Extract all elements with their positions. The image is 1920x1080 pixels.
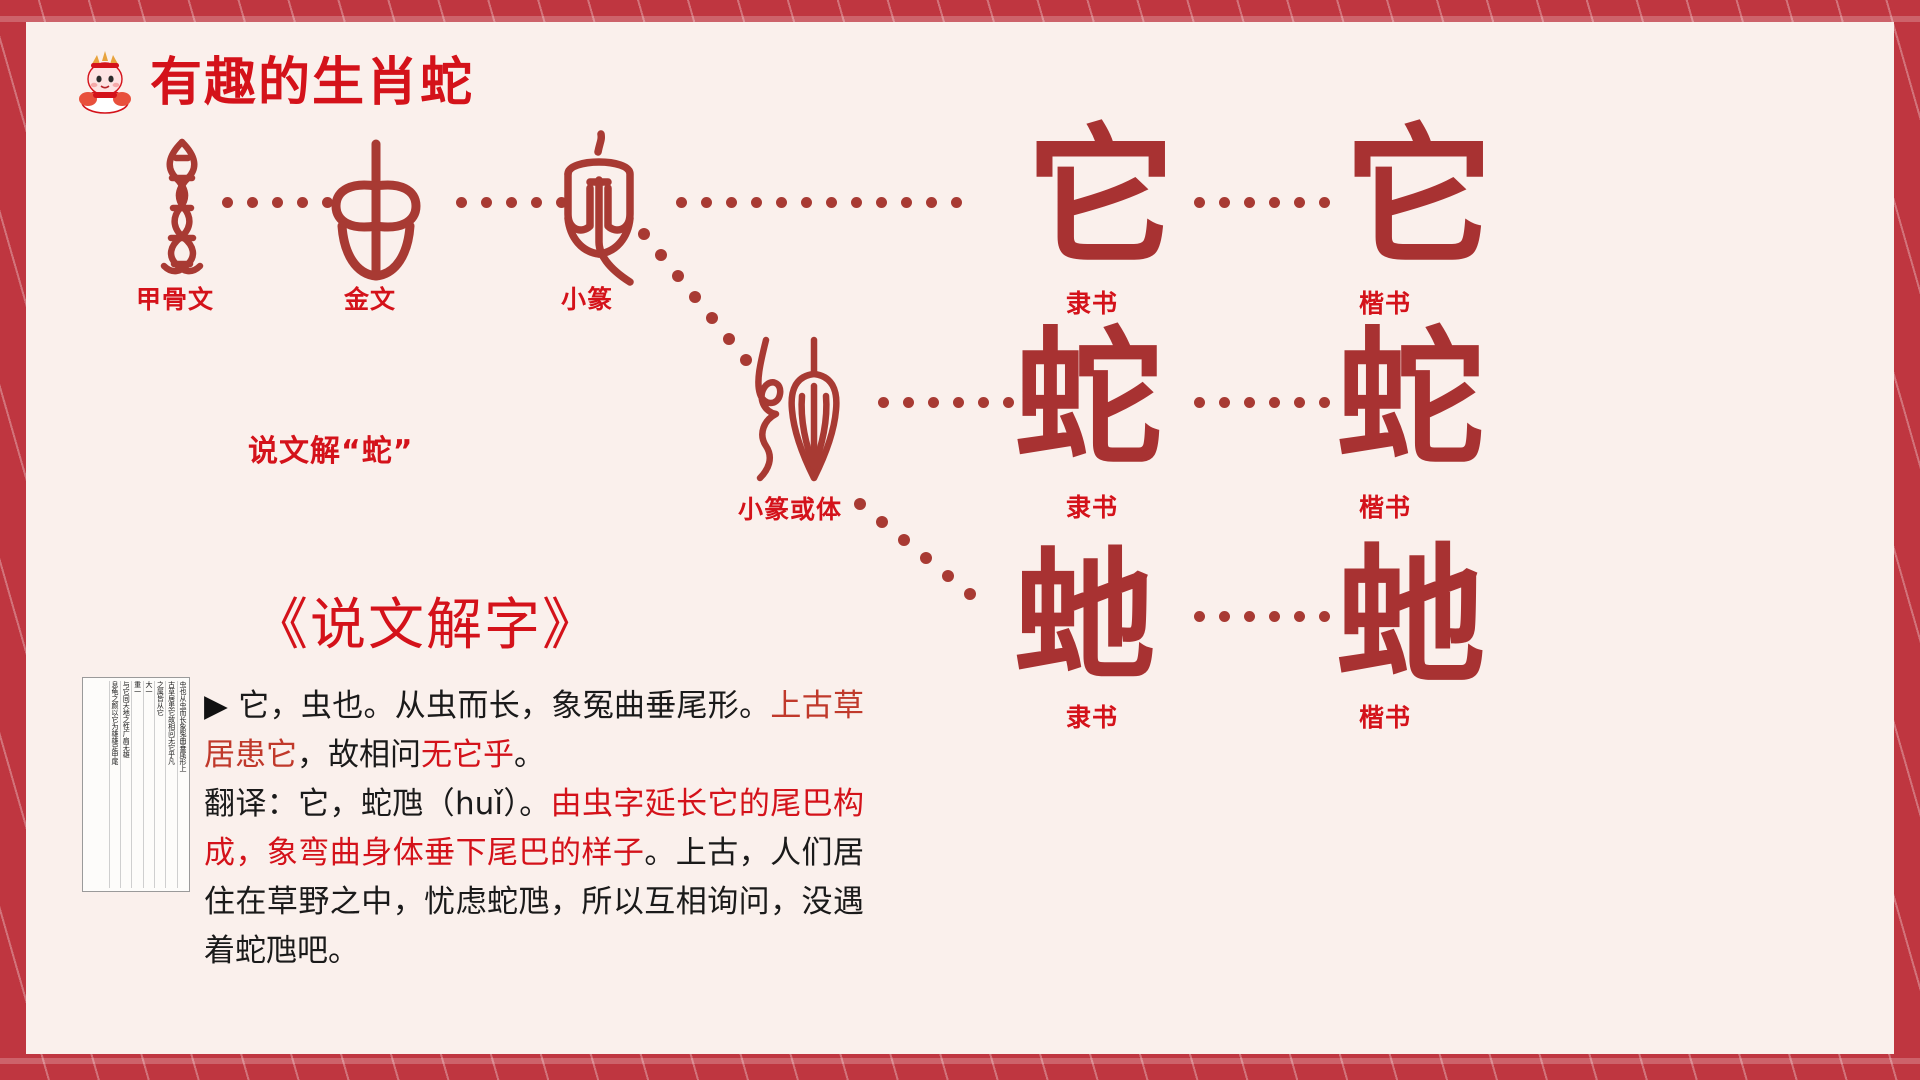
label-jiaguwen: 甲骨文 (136, 280, 214, 316)
definition-line1-pre: 它，虫也。从虫而长，象冤曲垂尾形。 (238, 688, 770, 724)
connector-dots-7 (1194, 610, 1342, 622)
slide-header: 有趣的生肖蛇 (74, 50, 474, 116)
thumb-col: 大一 (143, 681, 153, 888)
thumb-col: 重一 (131, 681, 141, 888)
glyph-lishu-hui: 虵 (1014, 546, 1156, 688)
thumb-col: 古草居患它故相问无它乎凡 (165, 681, 175, 888)
thumb-col: 虫也从虫而长象冤曲垂尾形上 (177, 681, 187, 888)
connector-dots-1 (222, 196, 314, 208)
label-lishu-2: 隶书 (1066, 488, 1118, 524)
definition-line1-highlight2: 无它乎 (421, 737, 514, 773)
snake-mascot-icon (74, 50, 136, 116)
glyph-jiaguwen (136, 134, 228, 288)
glyph-jinwen (322, 134, 430, 288)
connector-dots-5 (878, 396, 996, 408)
glyph-kaishu-ta: 它 (1344, 122, 1494, 272)
label-kaishu-3: 楷书 (1359, 698, 1411, 734)
page-title: 有趣的生肖蛇 (150, 57, 474, 109)
shuowen-jiezi-page-thumbnail: 虫也从虫而长象冤曲垂尾形上 古草居患它故相问无它乎凡 之属皆从它 大一 重一 与… (82, 677, 190, 892)
translation-pre: 翻译：它，蛇虺（huǐ）。 (204, 786, 551, 822)
connector-dots-diagonal-2 (854, 498, 984, 608)
glyph-kaishu-hui: 虵 (1336, 542, 1486, 692)
label-xiaozhuan: 小篆 (561, 280, 613, 316)
thumb-col: 与它同天地之性广肩无雄 (120, 681, 130, 888)
label-jinwen: 金文 (344, 280, 396, 316)
connector-dots-6 (1194, 396, 1342, 408)
label-kaishu-2: 楷书 (1359, 488, 1411, 524)
thumb-col: 息龟之颜以它为雄雄足甲尾 (109, 681, 119, 888)
glyph-kaishu-she: 蛇 (1336, 324, 1484, 472)
glyph-xiaozhuan-variant (744, 334, 864, 486)
label-lishu-3: 隶书 (1066, 698, 1118, 734)
label-xiaozhuan-variant: 小篆或体 (738, 490, 842, 526)
bullet-icon: ▶ (204, 688, 228, 724)
connector-dots-2 (456, 196, 548, 208)
book-title: 《说文解字》 (252, 580, 600, 661)
glyph-lishu-she: 蛇 (1014, 324, 1162, 472)
definition-line1-mid: ，故相问 (297, 737, 421, 773)
definition-text: ▶ 它，虫也。从虫而长，象冤曲垂尾形。上古草居患它，故相问无它乎。 翻译：它，蛇… (204, 682, 864, 976)
connector-dots-3 (676, 196, 1006, 208)
shuowen-tag: 说文解“蛇” (248, 426, 413, 470)
frame-bottom-line (0, 1058, 1920, 1064)
connector-dots-4 (1194, 196, 1346, 208)
definition-line1-end: 。 (514, 737, 545, 773)
thumb-col: 之属皆从它 (154, 681, 164, 888)
glyph-lishu-ta: 它 (1026, 122, 1176, 272)
slide-panel: 有趣的生肖蛇 甲骨文 (26, 22, 1894, 1054)
